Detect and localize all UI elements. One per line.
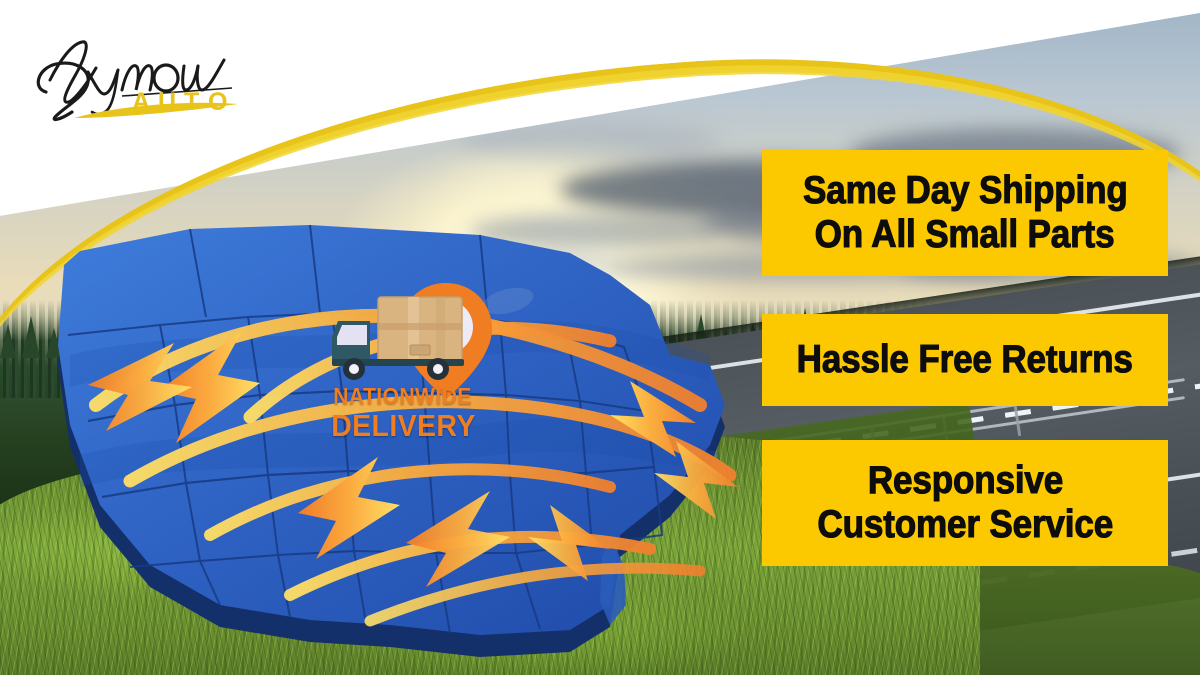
callout-line: Customer Service [817,503,1113,547]
logo-artwork: AUTO [26,20,256,125]
callout-line: Responsive [867,459,1062,503]
nationwide-delivery-label: NATIONWIDE DELIVERY [325,385,480,441]
promo-banner: AUTO [0,0,1200,675]
delivery-truck-icon [332,297,464,380]
callout-line: Same Day Shipping [803,169,1128,213]
svg-text:U: U [158,88,181,116]
svg-text:A: A [132,88,155,116]
delivery-text: DELIVERY [331,410,474,441]
svg-text:O: O [208,88,232,116]
callout-same-day-shipping[interactable]: Same Day Shipping On All Small Parts [762,150,1168,276]
svg-text:T: T [184,88,204,116]
callout-responsive-customer-service[interactable]: Responsive Customer Service [762,440,1168,566]
callout-hassle-free-returns[interactable]: Hassle Free Returns [762,314,1168,406]
brand-logo[interactable]: AUTO [26,20,256,125]
nationwide-text: NATIONWIDE [331,385,474,408]
callout-line: On All Small Parts [815,213,1115,257]
callout-line: Hassle Free Returns [797,338,1133,382]
